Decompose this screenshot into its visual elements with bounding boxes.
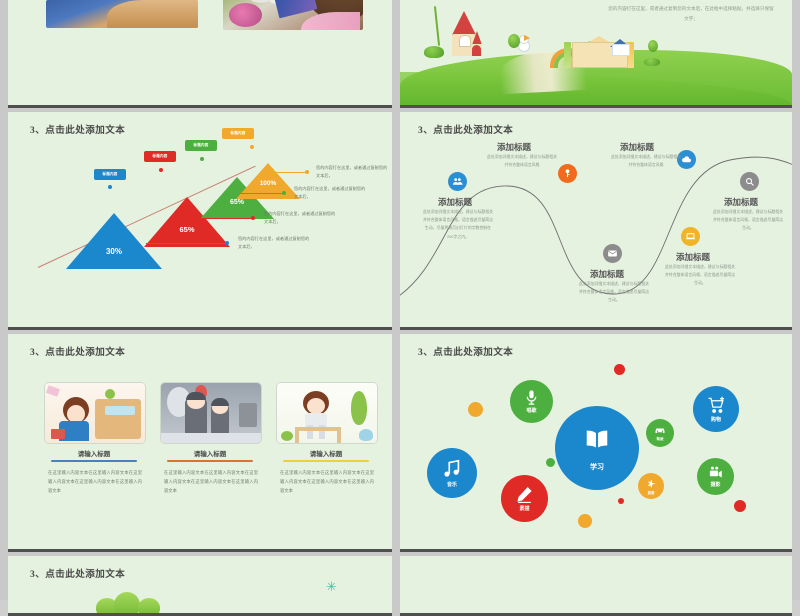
callout-label: 标题内容 [152,154,167,159]
gutter [392,0,400,110]
bubble-photography[interactable]: 摄影 [697,458,734,495]
bubble-label: 素描 [519,505,529,512]
car-icon [654,424,666,436]
microphone-icon [523,389,540,406]
slide5-title: 3、点击此处添加文本 [30,344,125,358]
tree-icon [648,40,658,52]
bubble-label: 摄影 [710,481,720,488]
node-title: 添加标题 [676,251,710,263]
castle-illustration [446,16,482,56]
decorative-dot [614,364,625,375]
node-search[interactable] [740,172,759,191]
callout-1: 标题内容 [94,169,126,180]
triangle-value-4: 100% [236,180,300,187]
bubble-driving[interactable]: 驾驶 [646,419,674,447]
slide1-body-text: 此处添加详细文本描述，建议与标题相关并符合整体语言风格，语言描述尽量简洁生动，尽… [48,0,200,2]
tree-icon [508,34,520,48]
bubble-label: 学习 [590,462,604,472]
marker-dot [200,157,204,161]
card-body-3: 在这里输入内容文本在这里输入内容文本在这里输入内容文本在这里输入内容文本在这里输… [280,468,374,496]
bubble-shopping[interactable]: 购物 [693,386,739,432]
gutter [392,556,400,616]
card-image-1[interactable] [44,382,146,444]
lead-dot [251,216,255,220]
gutter [392,334,400,552]
photo-child-writing [46,0,198,28]
slide-thumbnail-castle-banner[interactable]: 您的内容打在这里，或者通过复制您的文本后，在此框中选择粘贴，并选择只保留文字； [400,0,792,108]
triangle-value-2: 65% [144,225,230,234]
slide-thumbnail-three-cards[interactable]: 3、点击此处添加文本 请输入标题 在这里输入内容文本在这里输入内容文本在这里输入… [8,334,392,552]
node-body: 此处添加详细文本描述，建议与标题相关并符合整体语言风格 [610,153,682,169]
annotation-4: 您的内容打在这里，或者通过复制您的文本后， [238,235,312,252]
lead-dot [305,170,309,174]
node-laptop[interactable] [681,227,700,246]
node-title: 添加标题 [438,196,472,208]
card-title-2: 请输入标题 [160,448,260,458]
gutter [392,112,400,330]
card-image-3[interactable] [276,382,378,444]
slide-thumbnail-title-photo[interactable]: 标题文字内容 此处添加详细文本描述，建议与标题相关并符合整体语言风格，语言描述尽… [8,0,392,108]
bubble-study[interactable]: 学习 [555,406,639,490]
annotation-2: 您的内容打在这里，或者通过复制您的文本后， [294,185,368,202]
sprout-icon [114,592,140,616]
slide-thumbnail-bubble-cluster[interactable]: 3、点击此处添加文本 学习 唱歌 购物 音乐 [400,334,792,552]
key-icon [562,168,573,179]
vine-icon [434,6,440,46]
lead-line [190,218,252,219]
house-illustration [610,40,630,56]
music-note-icon [441,458,463,480]
card-rule-3 [283,460,369,462]
card-body-2: 在这里输入内容文本在这里输入内容文本在这里输入内容文本在这里输入内容文本在这里输… [164,468,258,496]
bubble-label: 驾驶 [656,437,663,442]
bubble-singing[interactable]: 唱歌 [510,380,553,423]
callout-label: 标题内容 [230,131,245,136]
bubble-label: 购物 [711,416,721,423]
slide-thumbnail-partial-bottom-left[interactable]: 3、点击此处添加文本 ✳ [8,556,392,616]
marker-dot [108,185,112,189]
slide-thumbnail-partial-bottom-right[interactable] [400,556,792,616]
node-title: 添加标题 [620,141,654,153]
node-body: 此处添加详细文本描述，建议与标题相关并符合整体语言风格，语言描述尽量简洁生动。 [578,280,650,305]
slide-thumbnail-triangle-chart[interactable]: 3、点击此处添加文本 30% 65% 65% 100% 标题内容 标题内容 标题… [8,112,392,330]
shopping-cart-icon [707,396,726,415]
card-title-3: 请输入标题 [276,448,376,458]
card-title-1: 请输入标题 [44,448,144,458]
slide2-body-text: 您的内容打在这里，或者通过复制您的文本后，在此框中选择粘贴，并选择只保留文字； [608,4,774,23]
bubble-music[interactable]: 音乐 [427,448,477,498]
bush-icon [424,46,444,58]
node-body: 此处添加详细文本描述，建议与标题相关并符合整体语言风格，语言描述尽量简洁生动，尽… [422,208,494,241]
callout-label: 标题内容 [102,172,117,177]
decorative-dot [734,500,746,512]
node-body: 此处添加详细文本描述，建议与标题相关并符合整体语言风格 [486,153,558,169]
node-key[interactable] [558,164,577,183]
card-rule-1 [51,460,137,462]
node-users[interactable] [448,172,467,191]
slide6-title: 3、点击此处添加文本 [418,344,513,358]
slide-thumbnail-deck: 标题文字内容 此处添加详细文本描述，建议与标题相关并符合整体语言风格，语言描述尽… [0,0,800,600]
sparkle-icon: ✳ [326,580,337,593]
marker-dot [159,168,163,172]
card-rule-2 [167,460,253,462]
lead-line [268,172,308,173]
bush-icon [644,58,660,66]
lead-dot [282,191,286,195]
card-body-1: 在这里输入内容文本在这里输入内容文本在这里输入内容文本在这里输入内容文本在这里输… [48,468,142,496]
decorative-dot [618,498,624,504]
triangle-value-1: 30% [66,247,162,256]
photo-girl-with-teddy-bears [223,0,363,30]
lead-line [240,193,284,194]
sprout-icon [138,598,160,616]
callout-2: 标题内容 [144,151,176,162]
callout-label: 标题内容 [193,143,208,148]
bubble-label: 旅游 [648,490,655,495]
bubble-sketch[interactable]: 素描 [501,475,548,522]
node-body: 此处添加详细文本描述，建议与标题相关并符合整体语言风格，语言描述尽量简洁生动。 [712,208,784,233]
users-icon [452,176,463,187]
marker-dot [250,145,254,149]
lead-dot [225,241,229,245]
slide3-title: 3、点击此处添加文本 [30,122,125,136]
open-book-icon [580,424,614,458]
callout-3: 标题内容 [185,140,217,151]
decorative-dot [578,514,592,528]
mail-icon [607,248,618,259]
bubble-label: 唱歌 [526,407,536,414]
annotation-3: 您的内容打在这里，或者通过复制您的文本后， [264,210,338,227]
triangle-value-3: 65% [200,199,274,206]
bubble-label: 音乐 [447,481,457,488]
node-title: 添加标题 [724,196,758,208]
node-title: 添加标题 [497,141,531,153]
airplane-icon [646,478,657,489]
slide-thumbnail-s-curve[interactable]: 3、点击此处添加文本 添加标题 此处添加详细文本描述，建议与标题相关并符合整体语… [400,112,792,330]
node-body: 此处添加详细文本描述，建议与标题相关并符合整体语言风格，语言描述尽量简洁生动。 [664,263,736,288]
callout-4: 标题内容 [222,128,254,139]
cloud-icon [681,154,692,165]
annotation-1: 您的内容打在这里，或者通过复制您的文本后， [316,164,390,181]
laptop-icon [685,231,696,242]
search-icon [744,176,755,187]
card-image-2[interactable] [160,382,262,444]
video-camera-icon [708,465,723,480]
node-title: 添加标题 [590,268,624,280]
pencil-icon [515,485,534,504]
slide7-title: 3、点击此处添加文本 [30,566,125,580]
bubble-travel[interactable]: 旅游 [638,473,664,499]
lead-line [146,243,226,244]
decorative-dot [468,402,483,417]
decorative-dot [546,458,555,467]
node-mail[interactable] [603,244,622,263]
